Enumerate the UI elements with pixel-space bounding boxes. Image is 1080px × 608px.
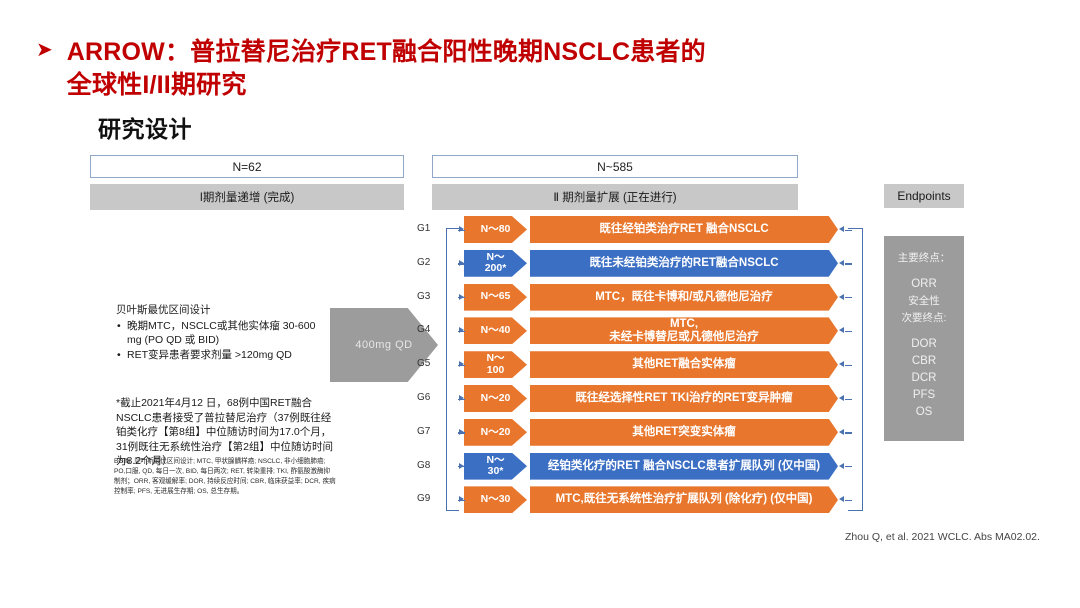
- list-item: 晚期MTC，NSCLC或其他实体瘤 30-600 mg (PO QD 或 BID…: [127, 319, 331, 348]
- cohort-desc-chevron-g2: 既往未经铂类治疗的RET融合NSCLC: [530, 250, 838, 277]
- cohort-desc-chevron-g5: 其他RET融合实体瘤: [530, 351, 838, 378]
- connector-tick-right: [845, 331, 852, 332]
- citation: Zhou Q, et al. 2021 WCLC. Abs MA02.02.: [845, 531, 1040, 543]
- connector-tick-right: [845, 230, 852, 231]
- endpoint-dcr: DCR: [912, 370, 937, 387]
- title-line-2: 全球性I/II期研究: [67, 69, 706, 102]
- cohort-n-chevron-g6: N～20: [464, 385, 527, 412]
- cohort-group-label-g7: G7: [417, 426, 439, 437]
- endpoint-orr: ORR: [911, 276, 937, 293]
- list-item: RET变异患者要求剂量 >120mg QD: [127, 348, 331, 363]
- phase2-n-box: N~585: [432, 155, 798, 178]
- connector-tick-right: [845, 365, 852, 366]
- primary-endpoint-label: 主要终点：: [898, 250, 951, 267]
- connector-arrow-left: [459, 260, 464, 266]
- connector-tick-right: [845, 500, 852, 501]
- connector-arrow-right: [839, 327, 844, 333]
- title-text: ARROW：普拉替尼治疗RET融合阳性晚期NSCLC患者的 全球性I/II期研究: [67, 36, 706, 102]
- cohort-group-label-g6: G6: [417, 392, 439, 403]
- cohort-n-chevron-g8: N～30*: [464, 453, 527, 480]
- connector-arrow-right: [839, 294, 844, 300]
- phase1-label-bar: I期剂量递增 (完成): [90, 184, 404, 210]
- endpoint-pfs: PFS: [913, 387, 935, 404]
- connector-arrow-left: [459, 327, 464, 333]
- cohort-group-label-g8: G8: [417, 460, 439, 471]
- bayesian-design-bullets: 晚期MTC，NSCLC或其他实体瘤 30-600 mg (PO QD 或 BID…: [116, 319, 331, 363]
- connector-arrow-right: [839, 395, 844, 401]
- connector-tick-right: [845, 466, 852, 467]
- cohort-n-chevron-g3: N～65: [464, 284, 527, 311]
- phase2-label-bar: Ⅱ 期剂量扩展 (正在进行): [432, 184, 798, 210]
- cohort-group-label-g1: G1: [417, 223, 439, 234]
- abbreviations-footnote: BOIN, 贝叶斯最优区间设计; MTC, 甲状腺髃样癌; NSCLC, 非小细…: [114, 457, 336, 497]
- slide-title: ➤ ARROW：普拉替尼治疗RET融合阳性晚期NSCLC患者的 全球性I/II期…: [36, 36, 936, 102]
- connector-arrow-left: [459, 226, 464, 232]
- connector-tick-right: [845, 399, 852, 400]
- connector-arrow-left: [459, 463, 464, 469]
- endpoint-dor: DOR: [911, 336, 937, 353]
- endpoint-os: OS: [916, 404, 933, 421]
- connector-arrow-left: [459, 294, 464, 300]
- connector-arrow-right: [839, 260, 844, 266]
- cohort-n-chevron-g5: N～100: [464, 351, 527, 378]
- cohort-group-label-g4: G4: [417, 324, 439, 335]
- cohort-n-chevron-g4: N～40: [464, 317, 527, 344]
- cohort-n-chevron-g1: N～80: [464, 216, 527, 243]
- cohort-group-label-g2: G2: [417, 257, 439, 268]
- connector-tick-right: [845, 297, 852, 298]
- connector-arrow-left: [459, 429, 464, 435]
- endpoints-header-bar: Endpoints: [884, 184, 964, 208]
- cohort-desc-chevron-g4: MTC,未经卡博替尼或凡德他尼治疗: [530, 317, 838, 344]
- secondary-endpoint-label: 次要终点:: [902, 310, 947, 327]
- connector-arrow-left: [459, 496, 464, 502]
- bayesian-design-block: 贝叶斯最优区间设计 晚期MTC，NSCLC或其他实体瘤 30-600 mg (P…: [116, 303, 331, 362]
- connector-arrow-right: [839, 226, 844, 232]
- cohort-n-chevron-g7: N～20: [464, 419, 527, 446]
- cohort-n-chevron-g2: N～200*: [464, 250, 527, 277]
- cohort-desc-chevron-g8: 经铂类化疗的RET 融合NSCLC患者扩展队列 (仅中国): [530, 453, 838, 480]
- cohort-n-chevron-g9: N～30: [464, 486, 527, 513]
- connector-arrow-left: [459, 395, 464, 401]
- phase1-n-box: N=62: [90, 155, 404, 178]
- cohort-desc-chevron-g1: 既往经铂类治疗RET 融合NSCLC: [530, 216, 838, 243]
- slide-root: ➤ ARROW：普拉替尼治疗RET融合阳性晚期NSCLC患者的 全球性I/II期…: [0, 0, 1080, 608]
- cohort-desc-chevron-g6: 既往经选择性RET TKI治疗的RET变异肿瘤: [530, 385, 838, 412]
- cohort-group-label-g9: G9: [417, 493, 439, 504]
- connector-tick-right: [845, 432, 852, 433]
- right-connector-bracket: [848, 228, 863, 511]
- dose-arrow: 400mg QD: [330, 308, 438, 382]
- connector-arrow-right: [839, 361, 844, 367]
- connector-arrow-right: [839, 496, 844, 502]
- bayesian-design-heading: 贝叶斯最优区间设计: [116, 303, 331, 318]
- connector-arrow-left: [459, 361, 464, 367]
- cohort-desc-chevron-g7: 其他RET突变实体瘤: [530, 419, 838, 446]
- cohort-desc-chevron-g9: MTC,既往无系统性治疗扩展队列 (除化疗) (仅中国): [530, 486, 838, 513]
- endpoint-safety: 安全性: [908, 293, 940, 310]
- bullet-arrow-icon: ➤: [36, 36, 53, 102]
- title-line-1: ARROW：普拉替尼治疗RET融合阳性晚期NSCLC患者的: [67, 36, 706, 69]
- section-heading: 研究设计: [98, 110, 192, 144]
- connector-arrow-right: [839, 463, 844, 469]
- left-connector-bracket: [446, 228, 459, 511]
- cohort-desc-chevron-g3: MTC，既往卡博和/或凡德他尼治疗: [530, 284, 838, 311]
- cohort-group-label-g3: G3: [417, 291, 439, 302]
- cohort-group-label-g5: G5: [417, 358, 439, 369]
- connector-tick-right: [845, 263, 852, 264]
- endpoint-cbr: CBR: [912, 353, 936, 370]
- connector-arrow-right: [839, 429, 844, 435]
- endpoints-panel: 主要终点： ORR 安全性 次要终点: DOR CBR DCR PFS OS: [884, 236, 964, 441]
